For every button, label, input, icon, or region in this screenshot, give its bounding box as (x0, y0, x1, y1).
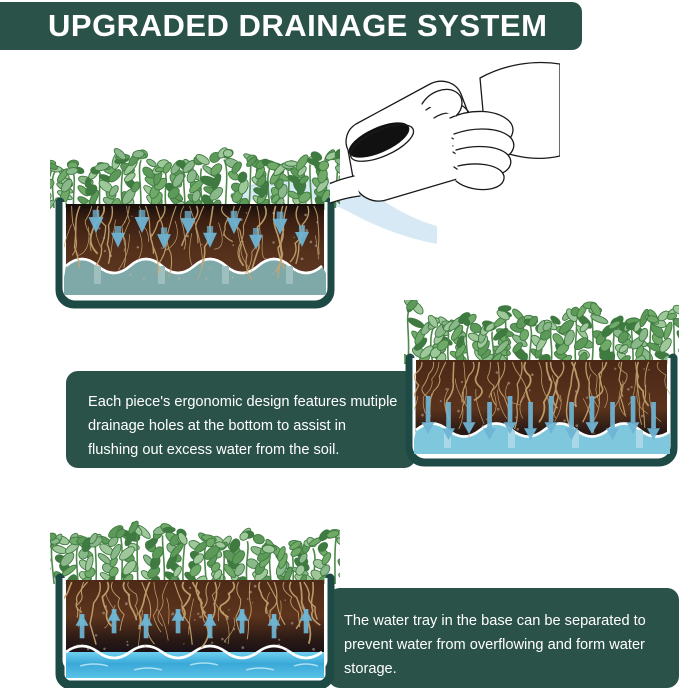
header-banner: UPGRADED DRAINAGE SYSTEM (0, 2, 582, 50)
infographic-canvas: UPGRADED DRAINAGE SYSTEM (0, 0, 679, 691)
watering-can-icon (330, 58, 560, 243)
planter-cross-section-draining (404, 300, 679, 475)
plant-foliage (404, 300, 679, 370)
caption-text: Each piece's ergonomic design features m… (88, 390, 400, 462)
page-title: UPGRADED DRAINAGE SYSTEM (48, 8, 547, 44)
caption-drainage-holes: Each piece's ergonomic design features m… (66, 371, 416, 468)
planter-cross-section-reservoir (50, 508, 340, 688)
caption-water-tray: The water tray in the base can be separa… (328, 588, 679, 688)
planter-cross-section-watering (50, 140, 340, 315)
caption-text: The water tray in the base can be separa… (344, 609, 663, 681)
